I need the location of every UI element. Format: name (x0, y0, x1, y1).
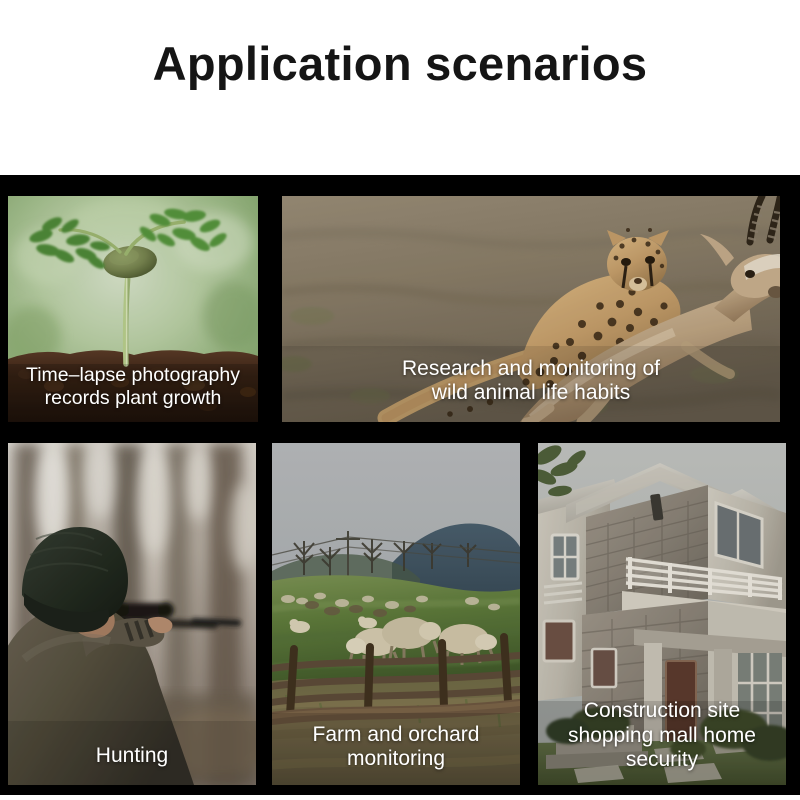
cheetah-gazelle-photo (282, 196, 780, 422)
hunter-photo (8, 443, 256, 785)
wildlife-research-panel[interactable]: Research and monitoring of wild animal l… (282, 196, 780, 422)
seedling-photo (8, 196, 258, 422)
page-title: Application scenarios (0, 36, 800, 91)
farm-orchard-panel[interactable]: Farm and orchard monitoring (272, 443, 520, 785)
house-photo (538, 443, 786, 785)
sheep-pasture-photo (272, 443, 520, 785)
application-scenarios-page: Application scenarios (0, 0, 800, 800)
hunting-panel[interactable]: Hunting (8, 443, 256, 785)
title-band: Application scenarios (0, 0, 800, 175)
scenario-gallery: Time–lapse photography records plant gro… (0, 175, 800, 795)
time-lapse-photography-panel[interactable]: Time–lapse photography records plant gro… (8, 196, 258, 422)
construction-security-panel[interactable]: Construction site shopping mall home sec… (538, 443, 786, 785)
